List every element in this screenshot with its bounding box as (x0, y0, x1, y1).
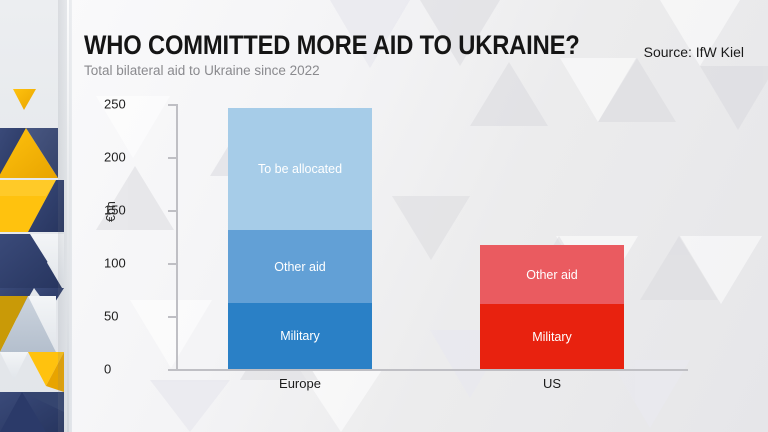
y-axis-title: €bn (104, 201, 118, 222)
bar-segment-europe-to-be-allocated[interactable]: To be allocated (228, 108, 372, 230)
segment-label-us-other-aid: Other aid (526, 268, 577, 282)
x-axis-label-us: US (480, 376, 624, 391)
segment-label-to-be-allocated: To be allocated (258, 162, 342, 176)
y-label-50-wrap: 50 (104, 316, 162, 331)
bar-us[interactable]: Other aid Military (480, 245, 624, 369)
y-tick-200 (168, 157, 176, 159)
segment-label-us-military: Military (532, 330, 572, 344)
y-label-0-wrap: 0 (104, 369, 162, 384)
bar-segment-us-military[interactable]: Military (480, 304, 624, 369)
chart-plot-area: 250 200 150 100 50 0 €bn To be allocated… (0, 0, 768, 432)
y-tick-150 (168, 210, 176, 212)
y-label-250-wrap: 250 (104, 104, 162, 119)
segment-label-europe-other-aid: Other aid (274, 260, 325, 274)
y-label-100-wrap: 100 (104, 263, 162, 278)
bar-segment-europe-other-aid[interactable]: Other aid (228, 230, 372, 303)
chart-screenshot: WHO COMMITTED MORE AID TO UKRAINE? Total… (0, 0, 768, 432)
y-axis-line (176, 104, 178, 370)
y-tick-50 (168, 316, 176, 318)
y-label-200-wrap: 200 (104, 157, 162, 172)
y-tick-100 (168, 263, 176, 265)
bar-segment-europe-military[interactable]: Military (228, 303, 372, 369)
bar-europe[interactable]: To be allocated Other aid Military (228, 108, 372, 369)
y-tick-0 (168, 369, 176, 371)
bar-segment-us-other-aid[interactable]: Other aid (480, 245, 624, 304)
y-tick-250 (168, 104, 176, 106)
x-axis-line (176, 369, 688, 371)
x-axis-label-europe: Europe (228, 376, 372, 391)
segment-label-europe-military: Military (280, 329, 320, 343)
